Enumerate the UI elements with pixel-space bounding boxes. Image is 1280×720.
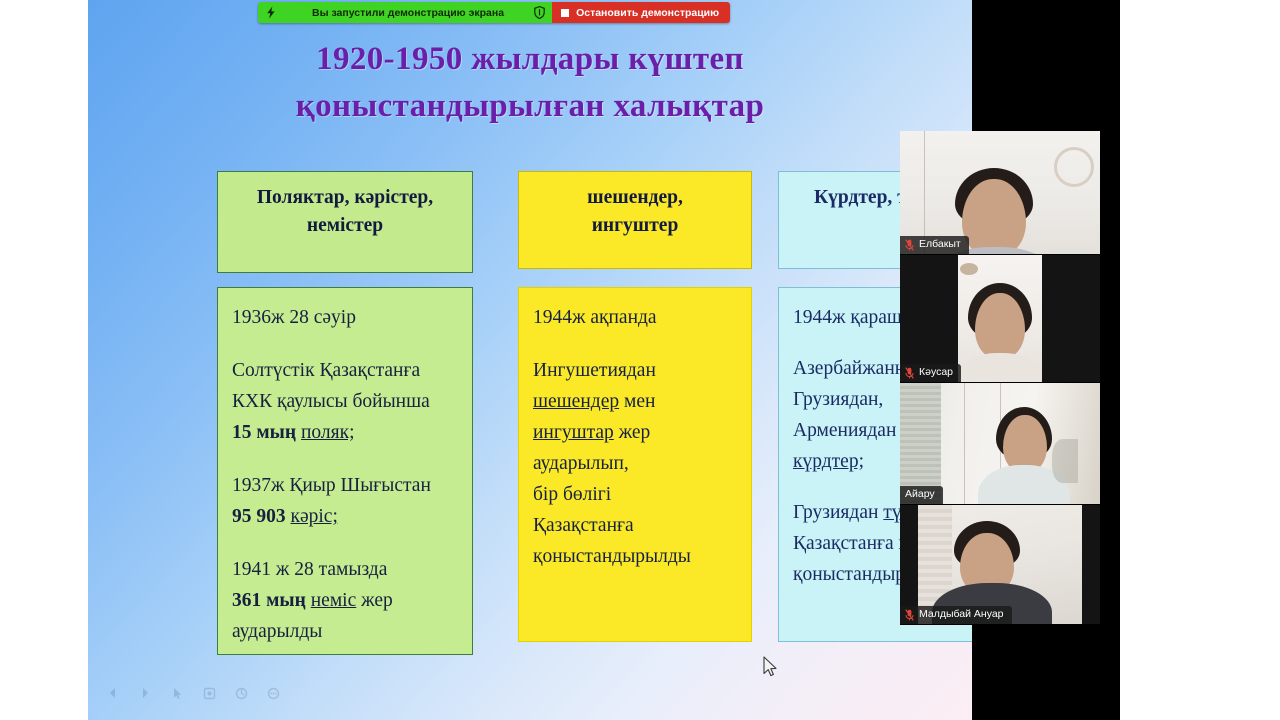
column-1-header-line-2: немістер [226, 212, 464, 240]
participant-name: Айару [905, 488, 935, 501]
column-2-header-line-1: шешендер, [527, 184, 743, 212]
mic-muted-icon [905, 239, 914, 251]
column-2-body: 1944ж ақпанда Ингушетиядан шешендер мен … [518, 287, 752, 642]
slide-overview-icon[interactable] [230, 682, 252, 704]
stop-share-button[interactable]: Остановить демонстрацию [552, 2, 730, 23]
screen-root: 1920-1950 жылдары күштеп қоныстандырылға… [0, 0, 1280, 720]
next-slide-icon[interactable] [134, 682, 156, 704]
annotate-icon[interactable] [198, 682, 220, 704]
mic-muted-icon [905, 367, 914, 379]
col2-line-2-underlined: шешендер [533, 391, 619, 412]
participant-name: Елбакыт [919, 238, 961, 251]
col1-p3-line2: 361 мың неміс жер [232, 585, 472, 616]
participant-name-badge: Елбакыт [900, 236, 969, 254]
participant-video-strip: Елбакыт Кәусар [900, 131, 1100, 625]
stop-square-icon [561, 9, 569, 17]
col2-line-1: Ингушетиядан [533, 355, 751, 386]
col2-date-1: 1944ж ақпанда [533, 302, 751, 333]
participant-name: Малдыбай Ануар [919, 608, 1004, 621]
col2-line-6: Қазақстанға [533, 510, 751, 541]
col2-line-3: ингуштар жер [533, 417, 751, 448]
slide-title-line-1: 1920-1950 жылдары күштеп [88, 36, 972, 83]
column-2-header: шешендер, ингуштер [518, 171, 752, 269]
col1-p3-tail: жер [356, 590, 393, 611]
presentation-controls[interactable] [102, 682, 284, 704]
col1-p1-line3: 15 мың поляк; [232, 417, 472, 448]
col2-line-2-tail: мен [619, 391, 655, 412]
col1-p2-line2: 95 903 кәріс; [232, 501, 472, 532]
pointer-icon[interactable] [166, 682, 188, 704]
col2-line-3-underlined: ингуштар [533, 422, 614, 443]
col2-line-5: бір бөлігі [533, 479, 751, 510]
participant-body [960, 353, 1040, 383]
column-1-header-line-1: Поляктар, кәрістер, [226, 184, 464, 212]
share-status-label: Вы запустили демонстрацию экрана [284, 7, 526, 19]
col1-p1-line2: КХК қаулысы бойынша [232, 386, 472, 417]
col1-date-3: 1941 ж 28 тамызда [232, 554, 472, 585]
participant-name-badge: Айару [900, 486, 943, 504]
video-tile[interactable]: Елбакыт [900, 131, 1100, 255]
share-screen-icon [266, 6, 276, 19]
col2-line-3-tail: жер [614, 422, 651, 443]
stop-share-label: Остановить демонстрацию [576, 7, 719, 19]
more-options-icon[interactable] [262, 682, 284, 704]
col1-p1-underlined: поляк; [301, 422, 355, 443]
col1-p3-line3: аударылды [232, 616, 472, 647]
video-tile[interactable]: Айару [900, 383, 1100, 505]
col2-line-4: аударылып, [533, 448, 751, 479]
col2-line-2: шешендер мен [533, 386, 751, 417]
col1-p2-underlined: кәріс; [291, 506, 338, 527]
column-2-header-line-2: ингуштер [527, 212, 743, 240]
lamp-decor [1054, 147, 1094, 187]
col2-line-7: қоныстандырылды [533, 541, 751, 572]
screen-share-banner: Вы запустили демонстрацию экрана Останов… [258, 2, 730, 23]
participant-face [975, 293, 1025, 359]
slide-title: 1920-1950 жылдары күштеп қоныстандырылға… [88, 36, 972, 130]
wall-line-decor [964, 383, 965, 504]
col1-date-1: 1936ж 28 сәуір [232, 302, 472, 333]
mic-muted-icon [905, 609, 914, 621]
col1-p1-line1: Солтүстік Қазақстанға [232, 355, 472, 386]
share-status-pill: Вы запустили демонстрацию экрана [258, 2, 552, 23]
col1-p3-bold: 361 мың [232, 590, 306, 611]
participant-name-badge: Малдыбай Ануар [900, 606, 1012, 624]
col3-line-5-head: Грузиядан [793, 502, 883, 523]
participant-name: Кәусар [919, 366, 953, 379]
shared-screen-slide: 1920-1950 жылдары күштеп қоныстандырылға… [88, 0, 972, 720]
prev-slide-icon[interactable] [102, 682, 124, 704]
chair-decor [1052, 439, 1078, 483]
video-tile[interactable]: Малдыбай Ануар [900, 505, 1100, 625]
participant-name-badge: Кәусар [900, 364, 961, 382]
video-feed [958, 255, 1042, 382]
mouse-cursor [763, 656, 779, 680]
column-1-body: 1936ж 28 сәуір Солтүстік Қазақстанға КХК… [217, 287, 473, 655]
col1-date-2: 1937ж Қиыр Шығыстан [232, 470, 472, 501]
shield-icon[interactable] [534, 6, 545, 19]
wall-decor [960, 263, 978, 275]
col1-p2-bold: 95 903 [232, 506, 286, 527]
col1-p1-bold: 15 мың [232, 422, 296, 443]
slide-title-line-2: қоныстандырылған халықтар [88, 83, 972, 130]
col3-line-4-underlined: күрдтер; [793, 451, 864, 472]
participant-face [962, 179, 1026, 255]
video-tile[interactable]: Кәусар [900, 255, 1100, 383]
col1-p3-underlined: неміс [311, 590, 357, 611]
column-1-header: Поляктар, кәрістер, немістер [217, 171, 473, 273]
